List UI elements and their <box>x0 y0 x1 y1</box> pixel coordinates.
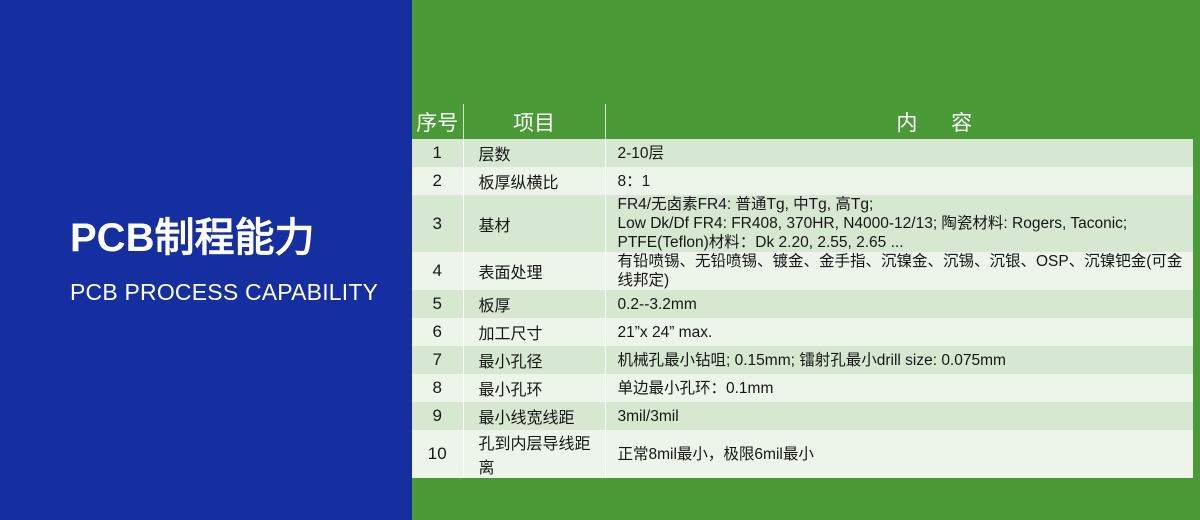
page-title-english: PCB PROCESS CAPABILITY <box>70 278 410 307</box>
table-row: 4 表面处理 有铅喷锡、无铅喷锡、镀金、金手指、沉镍金、沉锡、沉银、OSP、沉镍… <box>412 252 1193 290</box>
pcb-capability-table: 序号 项目 内 容 1 层数 2-10层 2 板厚纵横比 8：1 3 <box>412 104 1193 478</box>
cell-no: 6 <box>412 318 463 346</box>
table-row: 8 最小孔环 单边最小孔环：0.1mm <box>412 374 1193 402</box>
cell-item: 板厚纵横比 <box>463 167 605 195</box>
table-header: 序号 项目 内 容 <box>412 104 1193 139</box>
cell-no: 1 <box>412 139 463 167</box>
cell-content: 3mil/3mil <box>605 402 1193 430</box>
cell-item: 板厚 <box>463 290 605 318</box>
cell-no: 10 <box>412 430 463 478</box>
table-row: 6 加工尺寸 21”x 24” max. <box>412 318 1193 346</box>
cell-item: 层数 <box>463 139 605 167</box>
column-header-item: 项目 <box>463 104 605 139</box>
title-block: PCB制程能力 PCB PROCESS CAPABILITY <box>70 214 410 307</box>
cell-item: 最小线宽线距 <box>463 402 605 430</box>
table-row: 9 最小线宽线距 3mil/3mil <box>412 402 1193 430</box>
table-row: 3 基材 FR4/无卤素FR4: 普通Tg, 中Tg, 高Tg; Low Dk/… <box>412 195 1193 252</box>
cell-item: 最小孔环 <box>463 374 605 402</box>
table-row: 1 层数 2-10层 <box>412 139 1193 167</box>
cell-content: FR4/无卤素FR4: 普通Tg, 中Tg, 高Tg; Low Dk/Df FR… <box>605 195 1193 252</box>
table-row: 10 孔到内层导线距离 正常8mil最小，极限6mil最小 <box>412 430 1193 478</box>
page-title-chinese: PCB制程能力 <box>70 214 410 262</box>
column-header-content: 内 容 <box>605 104 1193 139</box>
left-blue-panel: PCB制程能力 PCB PROCESS CAPABILITY <box>0 0 412 520</box>
table-body: 1 层数 2-10层 2 板厚纵横比 8：1 3 基材 FR4/无卤素FR4: … <box>412 139 1193 478</box>
cell-content: 2-10层 <box>605 139 1193 167</box>
cell-content: 21”x 24” max. <box>605 318 1193 346</box>
cell-no: 5 <box>412 290 463 318</box>
cell-item: 最小孔径 <box>463 346 605 374</box>
cell-item: 表面处理 <box>463 252 605 290</box>
cell-item: 基材 <box>463 195 605 252</box>
cell-content: 0.2--3.2mm <box>605 290 1193 318</box>
spec-table-container: 序号 项目 内 容 1 层数 2-10层 2 板厚纵横比 8：1 3 <box>412 104 1193 478</box>
table-row: 2 板厚纵横比 8：1 <box>412 167 1193 195</box>
cell-content: 有铅喷锡、无铅喷锡、镀金、金手指、沉镍金、沉锡、沉银、OSP、沉镍钯金(可金线邦… <box>605 252 1193 290</box>
cell-no: 2 <box>412 167 463 195</box>
column-header-no: 序号 <box>412 104 463 139</box>
cell-no: 3 <box>412 195 463 252</box>
table-row: 7 最小孔径 机械孔最小钻咀; 0.15mm; 镭射孔最小drill size:… <box>412 346 1193 374</box>
table-header-row: 序号 项目 内 容 <box>412 104 1193 139</box>
cell-content: 单边最小孔环：0.1mm <box>605 374 1193 402</box>
table-row: 5 板厚 0.2--3.2mm <box>412 290 1193 318</box>
cell-item: 加工尺寸 <box>463 318 605 346</box>
cell-content: 8：1 <box>605 167 1193 195</box>
cell-no: 7 <box>412 346 463 374</box>
cell-no: 4 <box>412 252 463 290</box>
slide-canvas: PCB制程能力 PCB PROCESS CAPABILITY 序号 项目 内 容… <box>0 0 1200 520</box>
cell-no: 9 <box>412 402 463 430</box>
cell-item: 孔到内层导线距离 <box>463 430 605 478</box>
cell-no: 8 <box>412 374 463 402</box>
cell-content: 机械孔最小钻咀; 0.15mm; 镭射孔最小drill size: 0.075m… <box>605 346 1193 374</box>
cell-content: 正常8mil最小，极限6mil最小 <box>605 430 1193 478</box>
